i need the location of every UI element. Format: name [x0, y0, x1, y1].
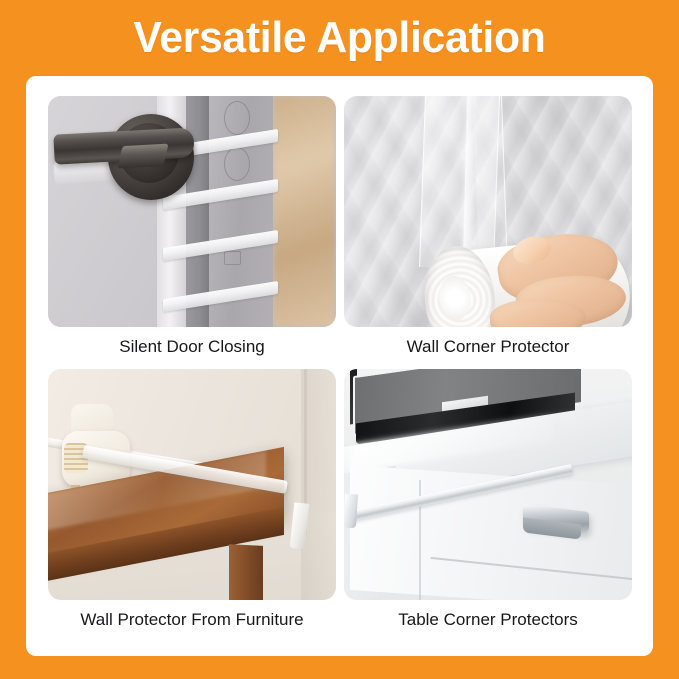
photo-wall-protector-from-furniture: [48, 369, 336, 600]
card-caption: Wall Corner Protector: [407, 338, 570, 357]
card-caption: Table Corner Protectors: [398, 611, 578, 630]
content-panel: Silent Door Closing Wall Corner: [26, 76, 653, 656]
table-leg: [229, 544, 263, 600]
card-caption: Wall Protector From Furniture: [80, 611, 303, 630]
card-silent-door-closing[interactable]: Silent Door Closing: [48, 96, 336, 367]
page-title: Versatile Application: [133, 16, 545, 60]
door-detail-oval: [224, 147, 250, 181]
title-bar: Versatile Application: [0, 0, 679, 76]
door-lever-tip: [117, 143, 168, 168]
table-corner-protector: [344, 493, 358, 528]
card-caption: Silent Door Closing: [119, 338, 265, 357]
card-wall-corner-protector[interactable]: Wall Corner Protector: [344, 96, 632, 367]
photo-table-corner-protectors: [344, 369, 632, 600]
photo-silent-door-closing: [48, 96, 336, 327]
poster-root: Versatile Application: [0, 0, 679, 679]
card-table-corner-protectors[interactable]: Table Corner Protectors: [344, 369, 632, 640]
photo-wall-corner-protector: [344, 96, 632, 327]
background-blur: [273, 96, 336, 327]
cards-grid: Silent Door Closing Wall Corner: [26, 76, 653, 656]
door-detail-oval: [224, 101, 250, 135]
door-detail-square: [224, 251, 241, 265]
card-wall-protector-from-furniture[interactable]: Wall Protector From Furniture: [48, 369, 336, 640]
